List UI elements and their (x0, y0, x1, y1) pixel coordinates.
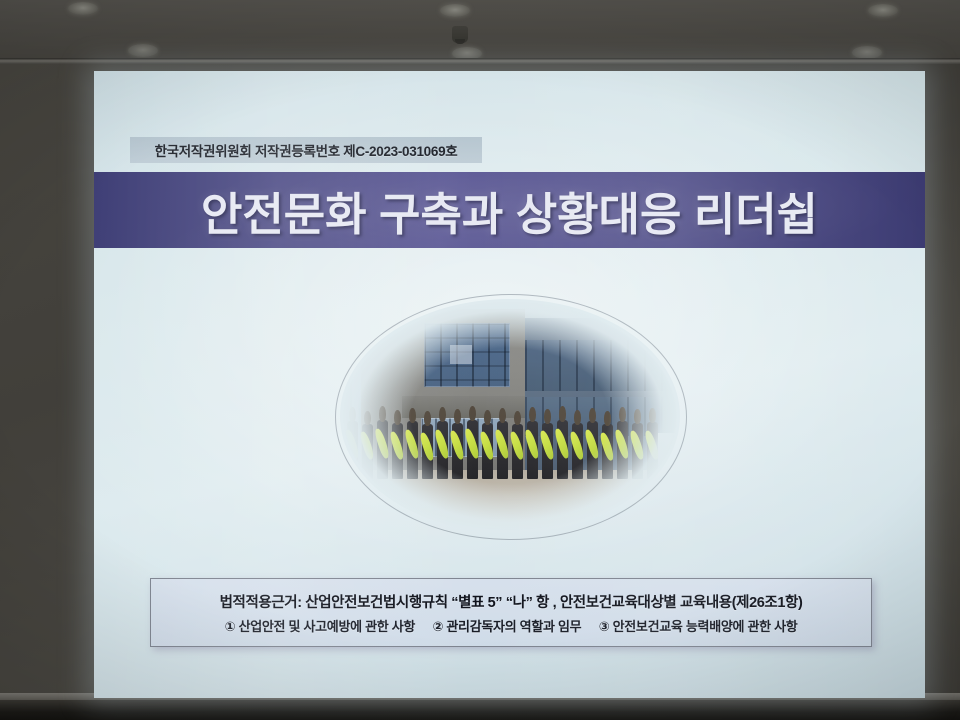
person (361, 411, 373, 480)
group-photo-scene (344, 303, 676, 529)
person (481, 410, 493, 480)
person (646, 408, 658, 479)
legal-basis-line: 법적적용근거: 산업안전보건법시행규칙 “별표 5” “나” 항 , 안전보건교… (220, 591, 803, 612)
person (511, 411, 523, 480)
projection-screen: 한국저작권위원회 저작권등록번호 제C-2023-031069호 안전문화 구축… (94, 71, 925, 698)
legal-items-row: ① 산업안전 및 사고예방에 관한 사항 ② 관리감독자의 역할과 임무 ③ 안… (218, 616, 805, 635)
person (347, 407, 359, 479)
slide-title-band: 안전문화 구축과 상황대응 리더쉽 (94, 172, 925, 248)
staff-group (344, 406, 676, 479)
person (556, 406, 568, 479)
group-photo-oval-frame (344, 303, 676, 529)
meeting-room-scene: 한국저작권위원회 저작권등록번호 제C-2023-031069호 안전문화 구축… (0, 0, 960, 720)
person (586, 408, 598, 480)
legal-item-1: ① 산업안전 및 사고예방에 관한 사항 (225, 619, 416, 634)
person (451, 409, 463, 479)
legal-item-3: ③ 안전보건교육 능력배양에 관한 사항 (599, 619, 798, 634)
person (601, 411, 613, 479)
wall-lower-shadow (0, 700, 960, 720)
ceiling-downlight-icon (68, 2, 98, 15)
person (541, 409, 553, 479)
legal-item-2: ② 관리감독자의 역할과 임무 (432, 619, 581, 634)
ceiling-downlight-icon (868, 4, 898, 17)
copyright-band: 한국저작권위원회 저작권등록번호 제C-2023-031069호 (130, 137, 482, 163)
person (421, 411, 433, 479)
person (436, 407, 448, 479)
person (376, 406, 388, 479)
building-window (424, 323, 510, 386)
ceiling-downlight-icon (128, 44, 158, 57)
person (526, 407, 538, 479)
person (571, 410, 583, 480)
person (406, 408, 418, 480)
slide-content: 한국저작권위원회 저작권등록번호 제C-2023-031069호 안전문화 구축… (94, 71, 925, 698)
person (616, 407, 628, 479)
person (466, 406, 478, 480)
person (391, 410, 403, 480)
copyright-notice-text: 한국저작권위원회 저작권등록번호 제C-2023-031069호 (155, 140, 458, 160)
ceiling-downlight-icon (440, 4, 470, 17)
legal-basis-box: 법적적용근거: 산업안전보건법시행규칙 “별표 5” “나” 항 , 안전보건교… (150, 578, 872, 647)
group-photo (344, 303, 676, 529)
slide-title: 안전문화 구축과 상황대응 리더쉽 (201, 178, 818, 243)
person (496, 408, 508, 480)
ceiling-sprinkler-icon (452, 26, 468, 43)
person (631, 409, 643, 479)
